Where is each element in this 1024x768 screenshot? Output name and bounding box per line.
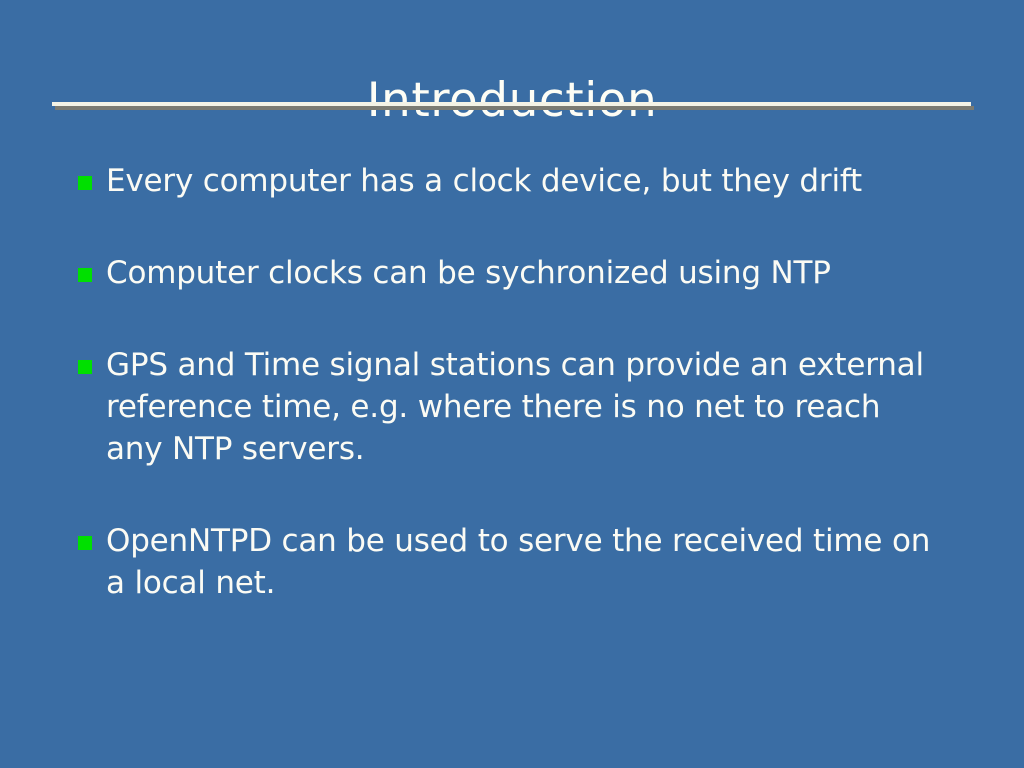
list-item-text: OpenNTPD can be used to serve the receiv… bbox=[106, 520, 968, 604]
list-item: Every computer has a clock device, but t… bbox=[78, 160, 968, 202]
green-square-bullet-icon bbox=[78, 360, 92, 374]
list-item: GPS and Time signal stations can provide… bbox=[78, 344, 968, 470]
title-divider-rule bbox=[52, 102, 971, 111]
divider-shadow bbox=[55, 106, 974, 110]
list-item-line: GPS and Time signal stations can provide… bbox=[106, 344, 968, 386]
list-item-line: any NTP servers. bbox=[106, 428, 968, 470]
list-item-line: a local net. bbox=[106, 562, 968, 604]
list-item: Computer clocks can be sychronized using… bbox=[78, 252, 968, 294]
list-item-text: Every computer has a clock device, but t… bbox=[106, 160, 968, 202]
page-title: Introduction bbox=[367, 77, 658, 124]
list-item-text: GPS and Time signal stations can provide… bbox=[106, 344, 968, 470]
bullet-list: Every computer has a clock device, but t… bbox=[78, 160, 968, 604]
list-item-line: Every computer has a clock device, but t… bbox=[106, 160, 968, 202]
list-item-text: Computer clocks can be sychronized using… bbox=[106, 252, 968, 294]
list-item: OpenNTPD can be used to serve the receiv… bbox=[78, 520, 968, 604]
green-square-bullet-icon bbox=[78, 268, 92, 282]
green-square-bullet-icon bbox=[78, 176, 92, 190]
slide-title-block: Introduction bbox=[0, 46, 1024, 156]
list-item-line: Computer clocks can be sychronized using… bbox=[106, 252, 968, 294]
list-item-line: OpenNTPD can be used to serve the receiv… bbox=[106, 520, 968, 562]
list-item-line: reference time, e.g. where there is no n… bbox=[106, 386, 968, 428]
green-square-bullet-icon bbox=[78, 536, 92, 550]
presentation-slide: Introduction Every computer has a clock … bbox=[0, 0, 1024, 768]
